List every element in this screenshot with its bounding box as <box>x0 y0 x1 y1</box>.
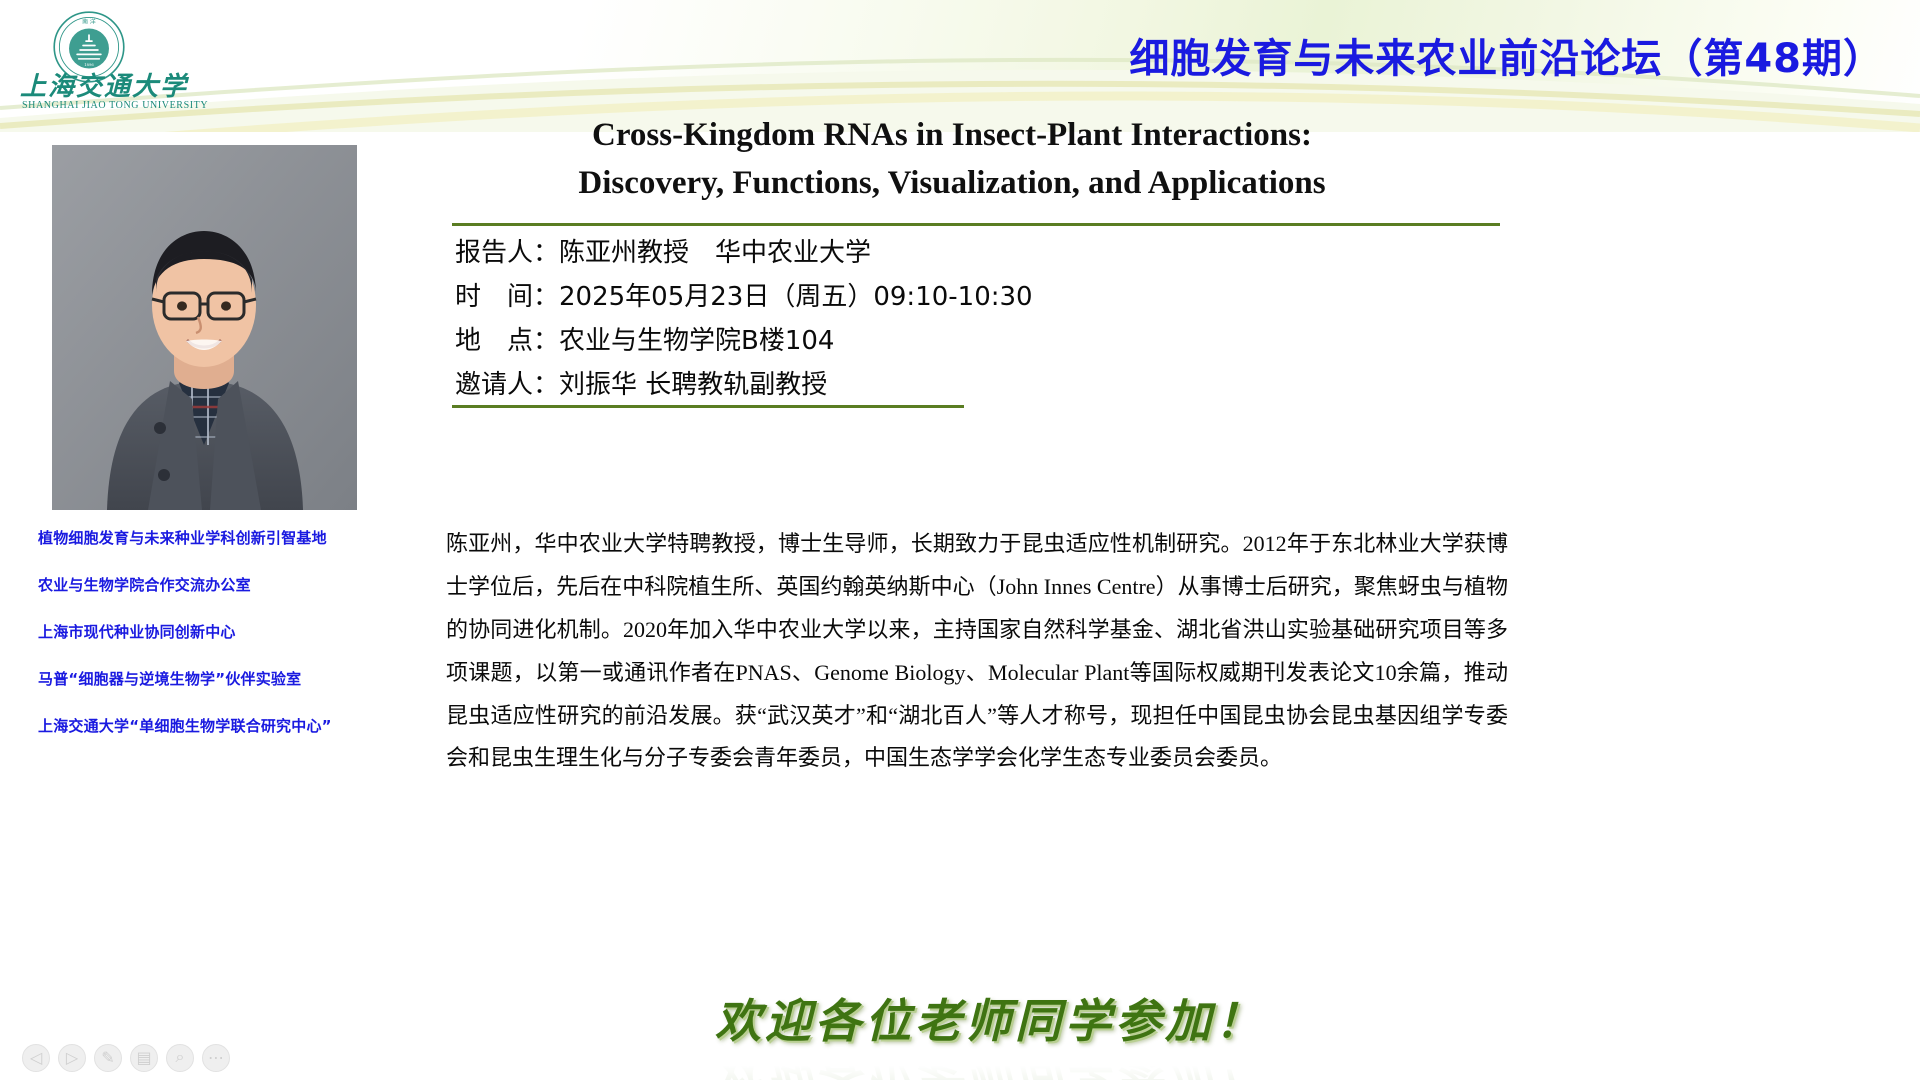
detail-row-time: 时 间：2025年05月23日（周五）09:10-10:30 <box>455 276 1495 320</box>
pen-icon[interactable]: ✎ <box>94 1044 122 1072</box>
svg-text:南 洋: 南 洋 <box>82 17 96 25</box>
organizer-item: 上海交通大学“单细胞生物学联合研究中心” <box>38 715 428 736</box>
organizer-item: 植物细胞发育与未来种业学科创新引智基地 <box>38 527 428 548</box>
speaker-biography: 陈亚州，华中农业大学特聘教授，博士生导师，长期致力于昆虫适应性机制研究。2012… <box>446 523 1508 780</box>
slideshow-toolbar[interactable]: ◁ ▷ ✎ ▤ ⌕ ⋯ <box>22 1044 230 1072</box>
university-name-en: SHANGHAI JIAO TONG UNIVERSITY <box>22 100 208 111</box>
more-options-icon[interactable]: ⋯ <box>202 1044 230 1072</box>
talk-title: Cross-Kingdom RNAs in Insect-Plant Inter… <box>452 112 1452 208</box>
university-name-cn: 上海交通大学 <box>20 66 176 103</box>
organizer-list: 植物细胞发育与未来种业学科创新引智基地 农业与生物学院合作交流办公室 上海市现代… <box>38 527 428 762</box>
organizer-item: 农业与生物学院合作交流办公室 <box>38 574 428 595</box>
time-label: 时 间： <box>455 276 559 320</box>
detail-row-speaker: 报告人：陈亚州教授 华中农业大学 <box>455 232 1495 276</box>
speaker-value: 陈亚州教授 华中农业大学 <box>559 238 871 268</box>
organizer-item: 上海市现代种业协同创新中心 <box>38 621 428 642</box>
place-value: 农业与生物学院B楼104 <box>559 326 834 356</box>
talk-title-line2: Discovery, Functions, Visualization, and… <box>452 160 1452 208</box>
portrait-image <box>52 145 357 510</box>
welcome-text-reflection: 欢迎各位老师同学参加！ <box>560 1045 1420 1080</box>
time-value: 2025年05月23日（周五）09:10-10:30 <box>559 282 1033 312</box>
speaker-portrait <box>52 145 357 510</box>
title-divider-top <box>452 223 1500 226</box>
details-divider-bottom <box>452 405 964 408</box>
detail-row-place: 地 点：农业与生物学院B楼104 <box>455 320 1495 364</box>
next-slide-icon[interactable]: ▷ <box>58 1044 86 1072</box>
host-value: 刘振华 长聘教轨副教授 <box>559 370 827 400</box>
speaker-label: 报告人： <box>455 232 559 276</box>
organizer-item: 马普“细胞器与逆境生物学”伙伴实验室 <box>38 668 428 689</box>
talk-details: 报告人：陈亚州教授 华中农业大学 时 间：2025年05月23日（周五）09:1… <box>455 232 1495 408</box>
host-label: 邀请人： <box>455 364 559 408</box>
forum-title: 细胞发育与未来农业前沿论坛（第48期） <box>1129 26 1884 84</box>
detail-row-host: 邀请人：刘振华 长聘教轨副教授 <box>455 364 1495 408</box>
presentation-slide: 细胞发育与未来农业前沿论坛（第48期） 南 洋 1896 上海交通大学 SHAN… <box>0 0 1920 1080</box>
welcome-text: 欢迎各位老师同学参加！ <box>560 985 1420 1051</box>
welcome-banner: 欢迎各位老师同学参加！ 欢迎各位老师同学参加！ <box>560 985 1420 1063</box>
previous-slide-icon[interactable]: ◁ <box>22 1044 50 1072</box>
university-logo: 南 洋 1896 上海交通大学 SHANGHAI JIAO TONG UNIVE… <box>18 8 178 120</box>
zoom-icon[interactable]: ⌕ <box>166 1044 194 1072</box>
slide-overview-icon[interactable]: ▤ <box>130 1044 158 1072</box>
talk-title-line1: Cross-Kingdom RNAs in Insect-Plant Inter… <box>452 112 1452 160</box>
place-label: 地 点： <box>455 320 559 364</box>
